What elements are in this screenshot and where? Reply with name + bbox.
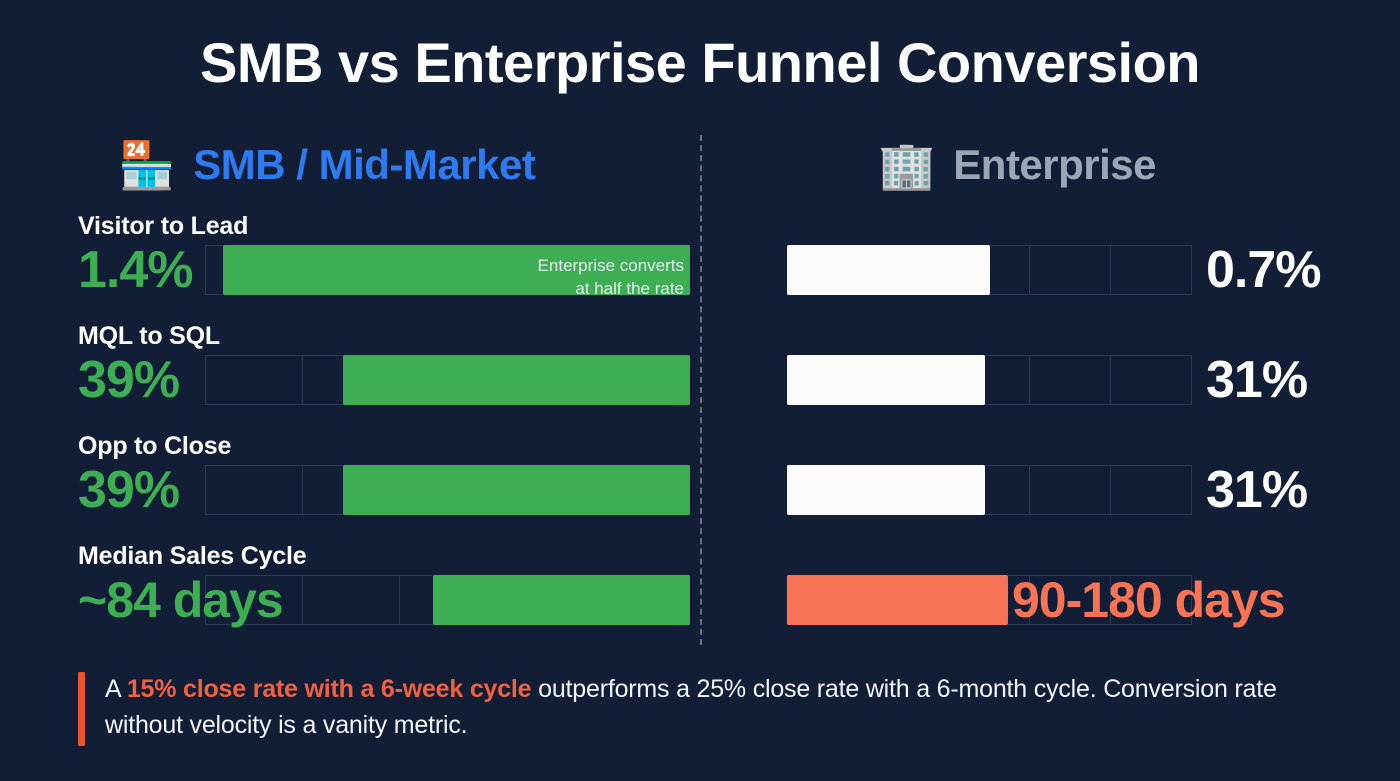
infographic-canvas: SMB vs Enterprise Funnel Conversion 🏪 SM… <box>0 0 1400 781</box>
track-cell <box>1111 246 1191 294</box>
footer-text-highlight: 15% close rate with a 6-week cycle <box>127 675 532 703</box>
footer-text: A 15% close rate with a 6-week cycle out… <box>105 672 1348 743</box>
annotation-line-2: at half the rate <box>438 278 684 301</box>
track-cell <box>1111 356 1191 404</box>
enterprise-bar-fill <box>787 465 985 515</box>
smb-value: 39% <box>78 349 179 411</box>
enterprise-value: 31% <box>1206 349 1307 411</box>
metric-label: MQL to SQL <box>78 322 220 351</box>
footer-accent-rule <box>78 672 85 746</box>
column-header-smb: 🏪 SMB / Mid-Market <box>118 134 535 196</box>
enterprise-bar-fill <box>787 245 990 295</box>
enterprise-value: 0.7% <box>1206 239 1321 301</box>
smb-value: 1.4% <box>78 239 193 301</box>
column-header-smb-label: SMB / Mid-Market <box>193 141 535 189</box>
enterprise-bar-fill <box>787 575 1008 625</box>
enterprise-side: 31% <box>0 465 1400 521</box>
enterprise-side: 0.7% <box>0 245 1400 301</box>
smb-value: ~84 days <box>78 569 283 631</box>
column-header-enterprise: 🏢 Enterprise <box>878 134 1156 196</box>
storefront-icon: 🏪 <box>118 142 175 188</box>
enterprise-value: 90-180 days <box>1012 569 1285 631</box>
metric-label: Opp to Close <box>78 432 231 461</box>
footer-text-pre: A <box>105 675 127 703</box>
enterprise-bar-fill <box>787 355 985 405</box>
office-building-icon: 🏢 <box>878 142 935 188</box>
smb-value: 39% <box>78 459 179 521</box>
annotation-callout: Enterprise converts at half the rate <box>438 255 684 301</box>
annotation-line-1: Enterprise converts <box>438 255 684 278</box>
metric-label: Median Sales Cycle <box>78 542 306 571</box>
track-cell <box>1030 466 1111 514</box>
enterprise-value: 31% <box>1206 459 1307 521</box>
column-header-enterprise-label: Enterprise <box>953 141 1156 189</box>
track-cell <box>1030 356 1111 404</box>
track-cell <box>1111 466 1191 514</box>
metric-label: Visitor to Lead <box>78 212 248 241</box>
footer-callout: A 15% close rate with a 6-week cycle out… <box>78 672 1348 746</box>
page-title: SMB vs Enterprise Funnel Conversion <box>0 34 1400 93</box>
track-cell <box>1030 246 1111 294</box>
enterprise-side: 31% <box>0 355 1400 411</box>
